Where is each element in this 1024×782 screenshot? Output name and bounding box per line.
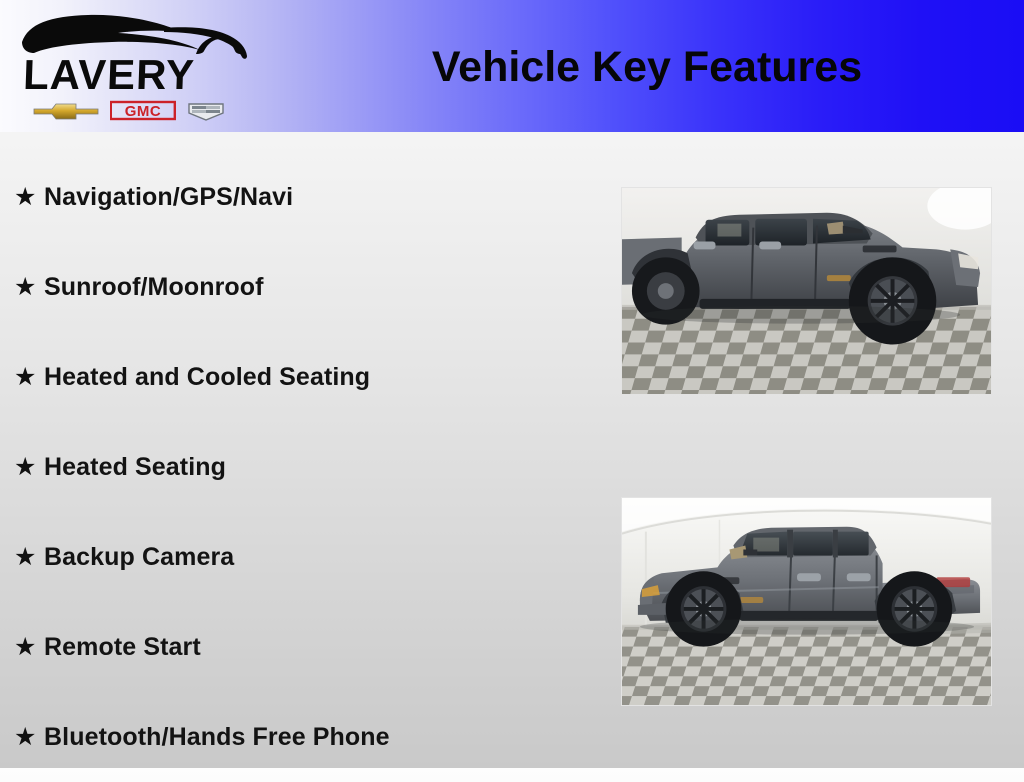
vehicle-photo-profile[interactable] — [621, 497, 992, 706]
features-list: ★ Navigation/GPS/Navi ★ Sunroof/Moonroof… — [14, 152, 594, 782]
dealer-wordmark: LAVERY — [20, 52, 256, 98]
feature-label: Remote Start — [44, 632, 201, 662]
dealer-logo[interactable]: LAVERY GMC — [14, 8, 254, 124]
star-bullet-icon: ★ — [14, 545, 44, 570]
vehicle-photo-closeup-image — [622, 188, 991, 394]
star-bullet-icon: ★ — [14, 455, 44, 480]
gmc-wordmark-icon: GMC — [110, 100, 176, 122]
list-item: ★ Backup Camera — [14, 512, 594, 602]
feature-label: Heated Seating — [44, 452, 226, 482]
star-bullet-icon: ★ — [14, 275, 44, 300]
feature-label: Navigation/GPS/Navi — [44, 182, 293, 212]
page-title: Vehicle Key Features — [340, 38, 954, 96]
chevrolet-bowtie-icon — [32, 101, 100, 121]
brand-logos-row: GMC — [32, 98, 244, 124]
feature-label: Backup Camera — [44, 542, 234, 572]
vehicle-photo-closeup[interactable] — [621, 187, 992, 395]
list-item: ★ Sunroof/Moonroof — [14, 242, 594, 332]
feature-label: Sunroof/Moonroof — [44, 272, 264, 302]
star-bullet-icon: ★ — [14, 635, 44, 660]
list-item: ★ Navigation/GPS/Navi — [14, 152, 594, 242]
feature-label: Bluetooth/Hands Free Phone — [44, 722, 390, 752]
star-bullet-icon: ★ — [14, 365, 44, 390]
list-item: ★ Heated and Cooled Seating — [14, 332, 594, 422]
dealer-name-text: LAVERY — [22, 52, 195, 98]
list-item: ★ Bluetooth/Hands Free Phone — [14, 692, 594, 782]
list-item: ★ Remote Start — [14, 602, 594, 692]
cadillac-crest-icon — [186, 100, 226, 122]
star-bullet-icon: ★ — [14, 185, 44, 210]
list-item: ★ Heated Seating — [14, 422, 594, 512]
vehicle-photo-profile-image — [622, 498, 991, 705]
star-bullet-icon: ★ — [14, 725, 44, 750]
svg-text:GMC: GMC — [125, 103, 162, 120]
feature-label: Heated and Cooled Seating — [44, 362, 370, 392]
header-band: LAVERY GMC — [0, 0, 1024, 132]
